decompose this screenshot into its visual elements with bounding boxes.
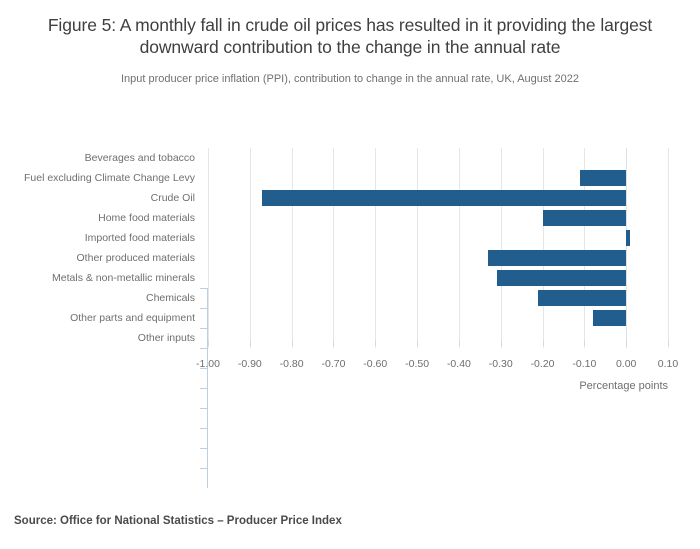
y-axis-category-label: Beverages and tobacco xyxy=(0,148,195,168)
x-tick-mark xyxy=(626,340,627,346)
x-axis-tick-labels: -1.00-0.90-0.80-0.70-0.60-0.50-0.40-0.30… xyxy=(208,358,668,374)
y-axis-category-label: Imported food materials xyxy=(0,228,195,248)
x-tick-label: -0.80 xyxy=(280,358,304,370)
gridline xyxy=(668,148,669,348)
chart-plot-wrapper: Beverages and tobaccoFuel excluding Clim… xyxy=(0,140,700,400)
x-tick-label: 0.00 xyxy=(616,358,636,370)
bar-row xyxy=(208,208,668,228)
bar[interactable] xyxy=(593,310,626,326)
y-tick-mark xyxy=(200,328,207,329)
x-axis-title: Percentage points xyxy=(208,380,668,392)
y-axis-category-labels: Beverages and tobaccoFuel excluding Clim… xyxy=(0,148,200,348)
x-tick-label: -0.40 xyxy=(447,358,471,370)
x-tick-label: -0.50 xyxy=(405,358,429,370)
x-tick-mark xyxy=(417,340,418,346)
y-axis-category-label: Home food materials xyxy=(0,208,195,228)
y-tick-mark xyxy=(200,348,207,349)
x-tick-label: -0.90 xyxy=(238,358,262,370)
x-tick-mark xyxy=(543,340,544,346)
page-title: Figure 5: A monthly fall in crude oil pr… xyxy=(30,14,670,59)
bar-row xyxy=(208,248,668,268)
y-tick-mark xyxy=(200,468,207,469)
x-tick-label: -0.70 xyxy=(321,358,345,370)
y-tick-mark xyxy=(200,308,207,309)
y-axis-category-label: Other produced materials xyxy=(0,248,195,268)
y-tick-mark xyxy=(200,448,207,449)
y-axis-category-label: Other inputs xyxy=(0,328,195,348)
bar-chart-plot-area xyxy=(208,148,668,348)
bar-row xyxy=(208,268,668,288)
y-axis-category-label: Metals & non-metallic minerals xyxy=(0,268,195,288)
y-tick-mark xyxy=(200,388,207,389)
bar[interactable] xyxy=(626,230,630,246)
bar-row xyxy=(208,328,668,348)
bar[interactable] xyxy=(543,210,627,226)
bar[interactable] xyxy=(497,270,627,286)
y-tick-mark xyxy=(200,428,207,429)
x-tick-mark xyxy=(250,340,251,346)
y-axis-category-label: Chemicals xyxy=(0,288,195,308)
y-tick-mark xyxy=(200,288,207,289)
bar-row xyxy=(208,308,668,328)
chart-subtitle: Input producer price inflation (PPI), co… xyxy=(22,73,678,85)
bar[interactable] xyxy=(488,250,626,266)
x-tick-mark xyxy=(375,340,376,346)
bar-row xyxy=(208,288,668,308)
bar-row xyxy=(208,188,668,208)
x-tick-label: -0.30 xyxy=(489,358,513,370)
x-tick-label: -0.20 xyxy=(531,358,555,370)
x-tick-label: -1.00 xyxy=(196,358,220,370)
bar[interactable] xyxy=(538,290,626,306)
x-tick-mark xyxy=(333,340,334,346)
bar-row xyxy=(208,228,668,248)
x-tick-mark xyxy=(501,340,502,346)
y-axis-category-label: Crude Oil xyxy=(0,188,195,208)
x-tick-label: -0.10 xyxy=(572,358,596,370)
x-tick-mark xyxy=(208,340,209,346)
x-tick-mark xyxy=(292,340,293,346)
y-axis-category-label: Fuel excluding Climate Change Levy xyxy=(0,168,195,188)
bar-row xyxy=(208,148,668,168)
chart-header: Figure 5: A monthly fall in crude oil pr… xyxy=(0,0,700,85)
bar[interactable] xyxy=(262,190,626,206)
x-tick-mark xyxy=(584,340,585,346)
x-tick-mark xyxy=(668,340,669,346)
bar[interactable] xyxy=(580,170,626,186)
x-tick-mark xyxy=(459,340,460,346)
bar-row xyxy=(208,168,668,188)
source-note: Source: Office for National Statistics –… xyxy=(14,515,342,527)
y-axis-category-label: Other parts and equipment xyxy=(0,308,195,328)
y-tick-mark xyxy=(200,408,207,409)
x-tick-label: -0.60 xyxy=(363,358,387,370)
x-tick-label: 0.10 xyxy=(658,358,678,370)
